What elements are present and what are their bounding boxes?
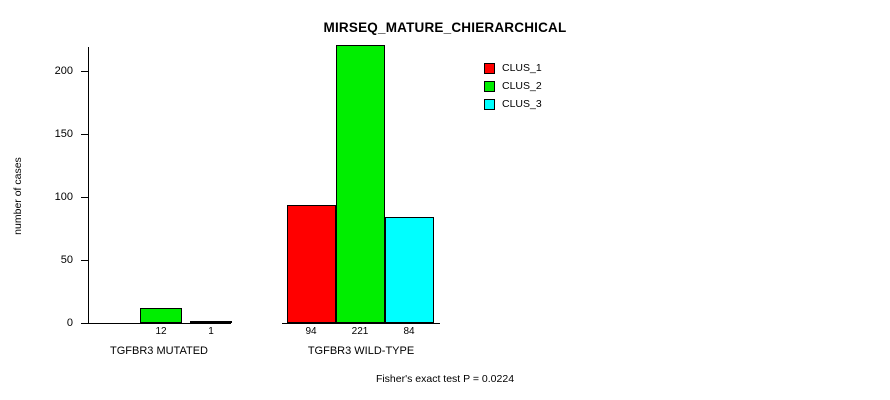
bar-group2-clus1 [287,205,336,323]
legend-label-clus2: CLUS_2 [502,80,542,92]
legend-swatch-clus2-icon [484,81,495,92]
bar-value-label-group2-clus3: 84 [379,326,439,337]
legend-label-clus1: CLUS_1 [502,62,542,74]
bar-group1-clus1 [140,308,182,323]
bars-layer [0,0,890,323]
legend-swatch-clus1-icon [484,63,495,74]
legend-item-clus2: CLUS_2 [484,78,604,94]
legend: CLUS_1 CLUS_2 CLUS_3 [484,60,604,114]
legend-label-clus3: CLUS_3 [502,98,542,110]
group-label-mutated: TGFBR3 MUTATED [49,345,269,357]
bar-group2-clus3 [385,217,434,323]
bar-group1-clus2 [190,321,232,323]
x-axis-segment-group-2 [282,323,440,324]
footnote-pvalue: Fisher's exact test P = 0.0224 [0,373,890,385]
group-label-wildtype: TGFBR3 WILD-TYPE [251,345,471,357]
legend-swatch-clus3-icon [484,99,495,110]
bar-value-label-group1-clus2: 1 [181,326,241,337]
y-tick-mark-0 [81,323,88,324]
chart-container: MIRSEQ_MATURE_CHIERARCHICAL 0 50 100 150… [0,0,890,400]
bar-group2-clus2 [336,45,385,323]
x-axis-segment-group-1 [88,323,231,324]
legend-item-clus1: CLUS_1 [484,60,604,76]
legend-item-clus3: CLUS_3 [484,96,604,112]
